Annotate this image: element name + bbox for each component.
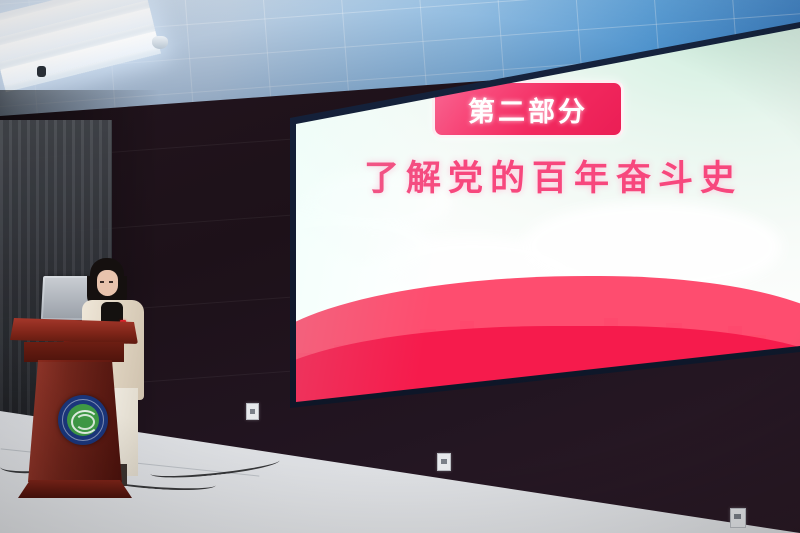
- wall-socket-right[interactable]: [730, 508, 746, 528]
- podium-neck: [24, 342, 124, 362]
- university-emblem: [58, 395, 108, 445]
- emblem-swirl-icon: [75, 414, 95, 430]
- podium: [10, 318, 138, 498]
- podium-base: [18, 480, 132, 498]
- presentation-room-scene: 第二部分 了解党的百年奋斗史: [0, 0, 800, 533]
- podium-body: [28, 360, 122, 482]
- section-banner-label: 第二部分: [468, 90, 588, 129]
- ceiling-speaker-icon: [152, 36, 168, 49]
- slide-subtitle: 了解党的百年奋斗史: [318, 150, 788, 201]
- wall-socket-center[interactable]: [437, 453, 451, 471]
- ceiling-camera-icon: [37, 66, 46, 77]
- presenter-face: [97, 270, 118, 296]
- podium-top: [10, 318, 138, 344]
- wall-socket-left[interactable]: [246, 403, 259, 420]
